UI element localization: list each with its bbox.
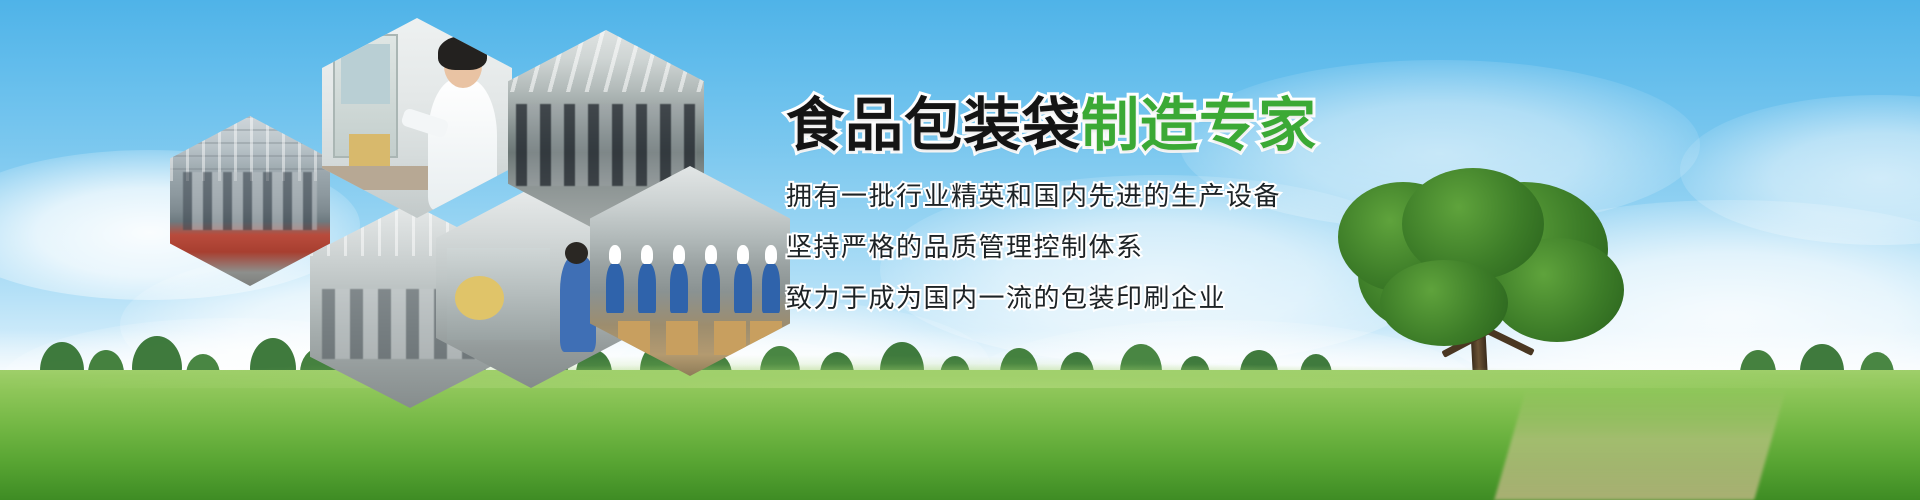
headline: 食品包装袋制造专家 — [786, 96, 1546, 154]
subtitle-line-1: 拥有一批行业精英和国内先进的生产设备 — [786, 184, 1546, 210]
headline-accent: 制造专家 — [1081, 91, 1317, 159]
photo-warehouse-aisle — [170, 116, 330, 286]
dirt-path — [1494, 390, 1786, 500]
subtitle-list: 拥有一批行业精英和国内先进的生产设备 坚持严格的品质管理控制体系 致力于成为国内… — [786, 184, 1546, 312]
promo-banner: 食品包装袋制造专家 拥有一批行业精英和国内先进的生产设备 坚持严格的品质管理控制… — [0, 0, 1920, 500]
grass-field — [0, 370, 1920, 500]
cloud-7 — [1680, 95, 1920, 245]
subtitle-line-3: 致力于成为国内一流的包装印刷企业 — [786, 286, 1546, 312]
subtitle-line-2: 坚持严格的品质管理控制体系 — [786, 235, 1546, 261]
headline-primary: 食品包装袋 — [786, 91, 1081, 159]
laboratory-technician-image — [322, 18, 512, 218]
photo-laboratory-technician — [322, 18, 512, 218]
banner-text-block: 食品包装袋制造专家 拥有一批行业精英和国内先进的生产设备 坚持严格的品质管理控制… — [786, 96, 1546, 312]
warehouse-aisle-image — [170, 116, 330, 286]
hexagon-photo-collage — [170, 18, 770, 363]
